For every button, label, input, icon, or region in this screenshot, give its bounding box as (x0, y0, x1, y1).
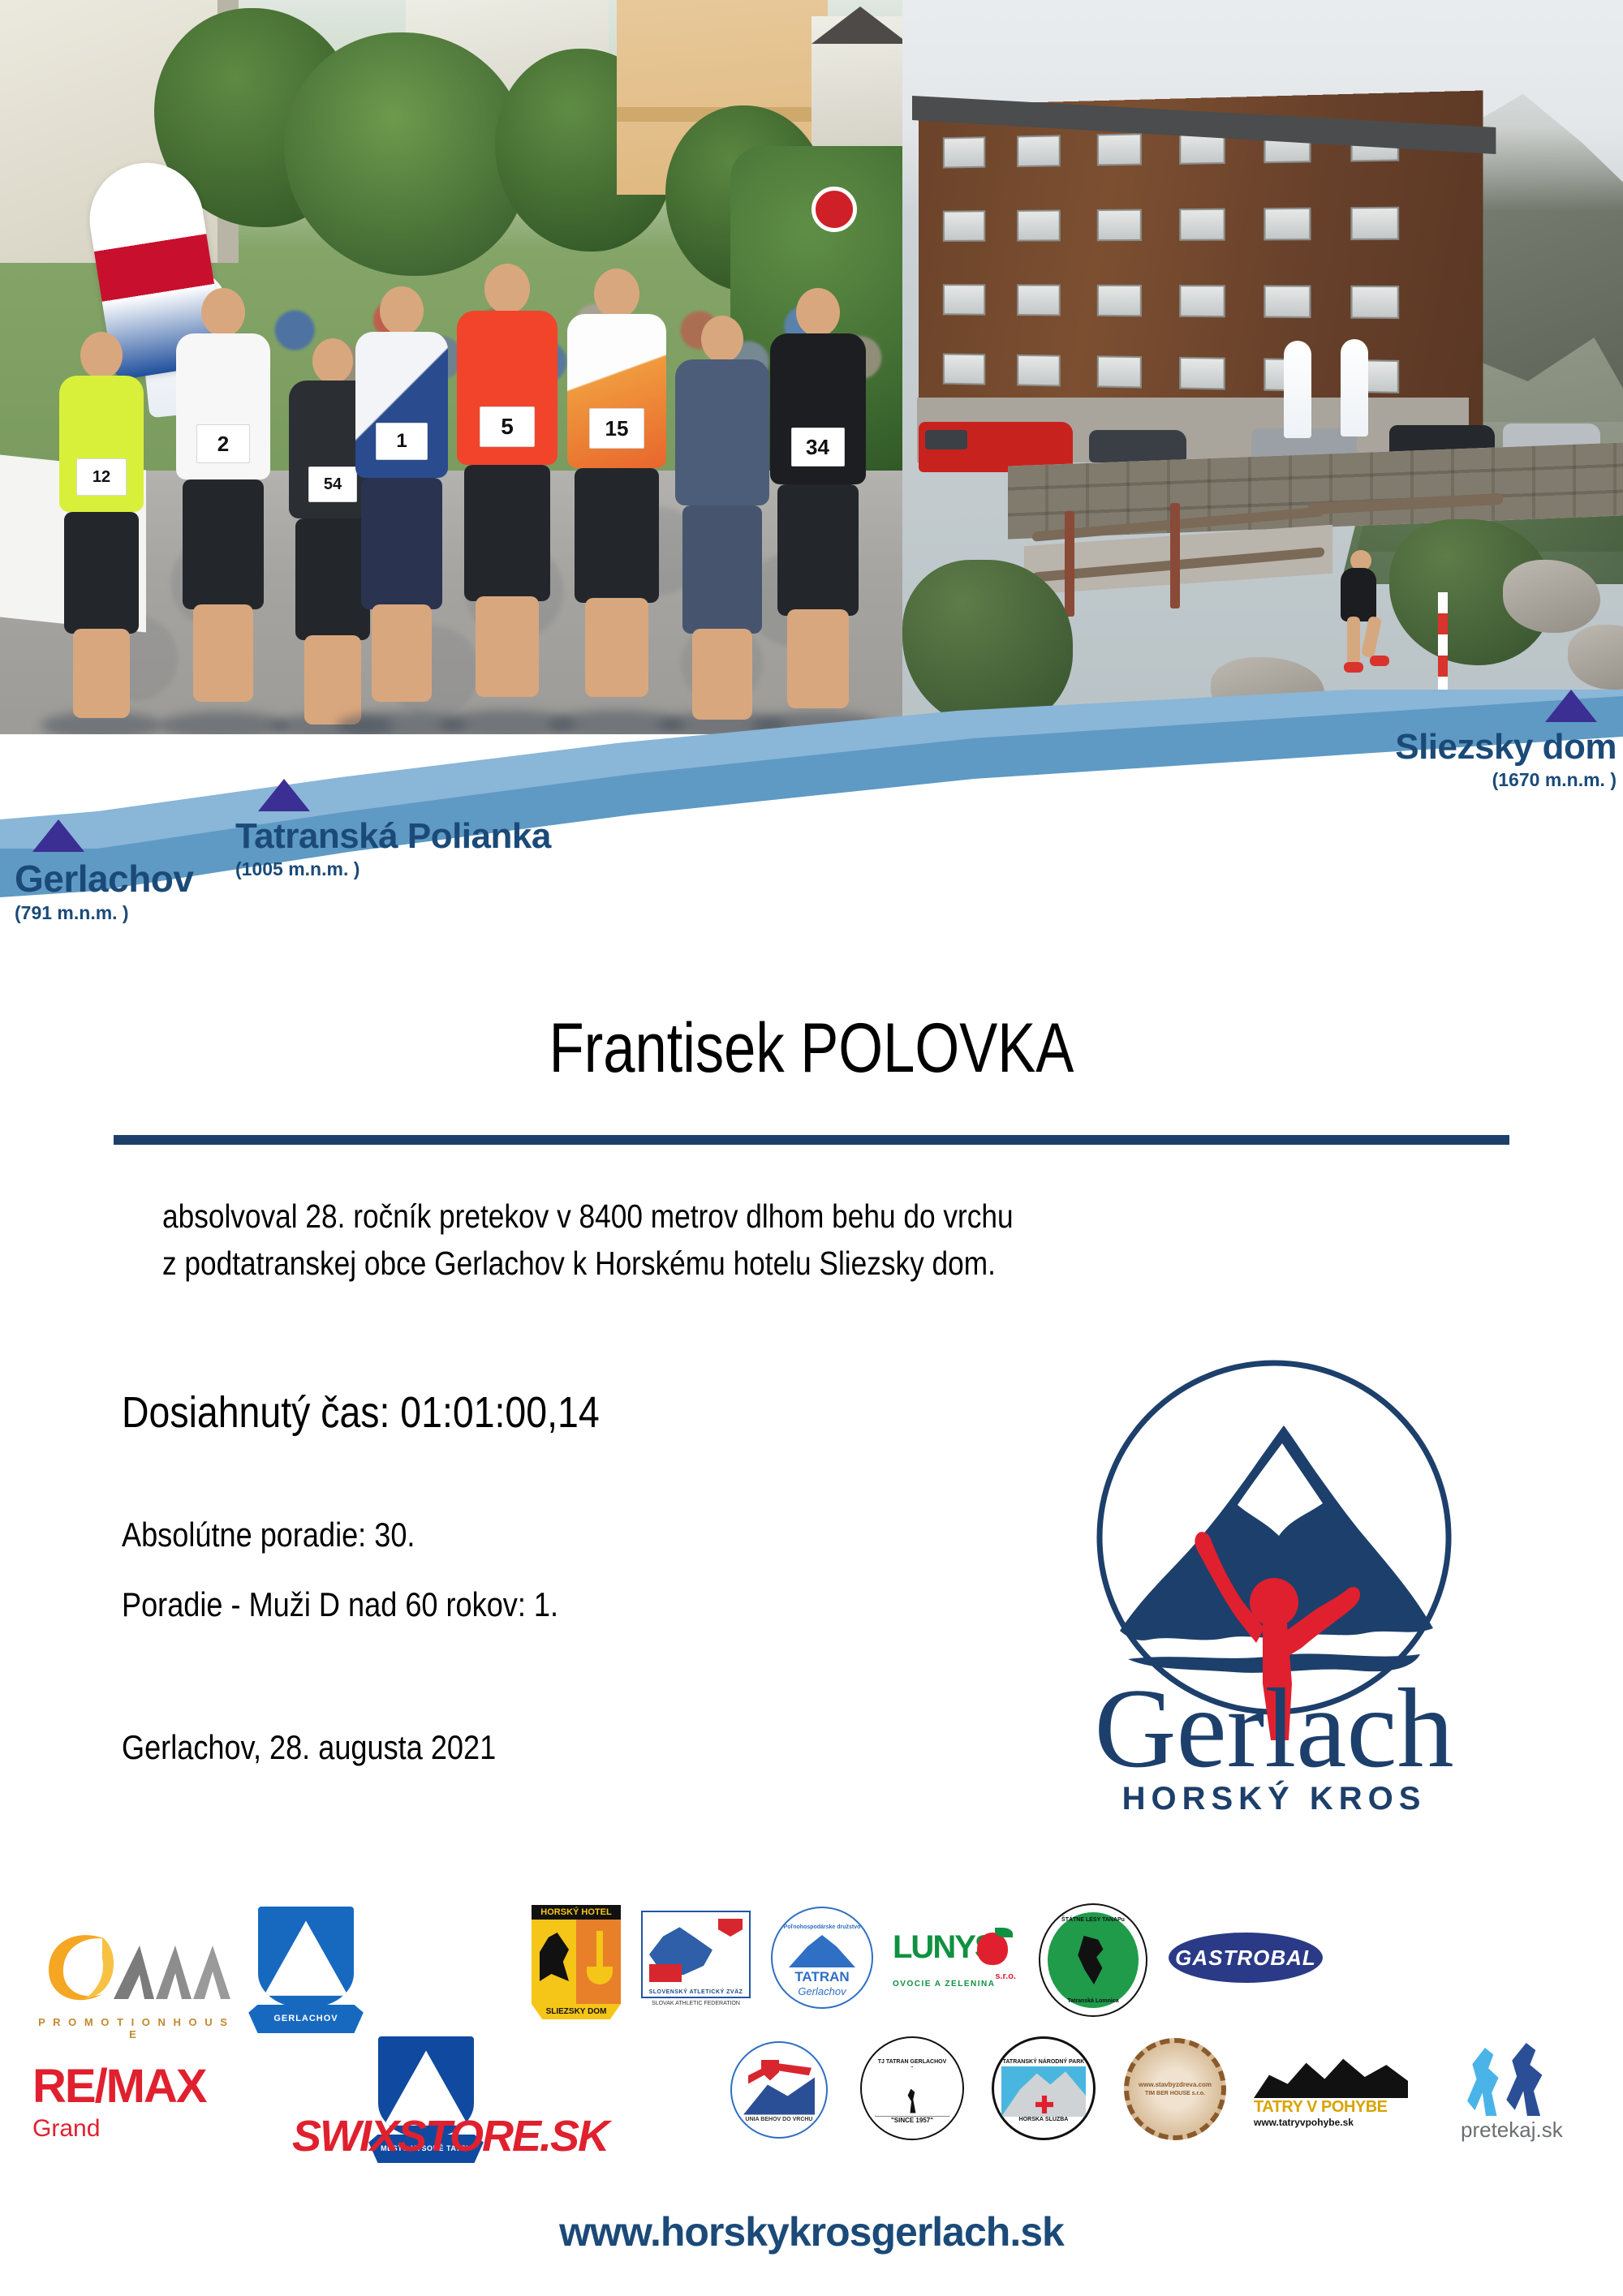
unia-name: UNIA BEHOV DO VRCHU (746, 2117, 813, 2122)
tanap-sub: Tatranská Lomnica (1048, 1998, 1139, 2004)
achieved-time: Dosiahnutý čas: 01:01:00,14 (122, 1387, 600, 1438)
tj-sub: "SINCE 1957" (891, 2117, 933, 2124)
marker-altitude: (791 m.n.m. ) (15, 902, 194, 924)
apple-icon (977, 1933, 1008, 1965)
place-and-date: Gerlachov, 28. augusta 2021 (122, 1728, 496, 1767)
marker-name: Sliezsky dom (1395, 727, 1617, 767)
marker-name: Gerlachov (15, 857, 194, 901)
sponsor-swixstore: SWIXSTORE.SK (292, 2111, 641, 2161)
elevation-marker-sliezsky-dom: Sliezsky dom (1670 m.n.m. ) (1395, 690, 1617, 791)
ajla-tagline: P R O M O T I O N H O U S E (32, 2016, 235, 2040)
elevation-marker-gerlachov: Gerlachov (791 m.n.m. ) (15, 819, 194, 924)
website-url: www.horskykrosgerlach.sk (0, 2208, 1623, 2255)
tanap-name: ŠTÁTNE LESY TANAPu (1048, 1917, 1139, 1923)
tatran-sub: Gerlachov (798, 1985, 846, 1997)
logo-tagline: HORSKÝ KROS (1122, 1779, 1427, 1817)
photo-band: 12 2 54 1 (0, 0, 1623, 734)
elevation-profile: Gerlachov (791 m.n.m. ) Tatranská Polian… (0, 690, 1623, 1030)
runner-figure: 12 (49, 312, 154, 734)
tatran-top: Poľnohospodárske družstvo (784, 1924, 861, 1930)
crest-name: GERLACHOV (248, 2005, 364, 2033)
race-description: absolvoval 28. ročník pretekov v 8400 me… (162, 1193, 1293, 1287)
marker-name: Tatranská Polianka (235, 816, 551, 857)
triangle-marker-icon (1545, 690, 1597, 722)
hs-name: TATRANSKÝ NÁRODNÝ PARK (1003, 2059, 1085, 2065)
tvp-sub: www.tatryvpohybe.sk (1254, 2117, 1408, 2128)
runner-figure: 34 (755, 280, 880, 734)
hs-sub: HORSKÁ SLUŽBA (1019, 2117, 1069, 2122)
sponsor-unia-behov-do-vrchu: UNIA BEHOV DO VRCHU (730, 2041, 828, 2139)
lunys-extra: s.r.o. (995, 1971, 1016, 1981)
sponsor-statne-lesy-tanapu: ŠTÁTNE LESY TANAPu Tatranská Lomnica (1039, 1903, 1147, 2017)
tj-name: TJ TATRAN GERLACHOV (878, 2059, 947, 2065)
sponsor-ajla: P R O M O T I O N H O U S E (32, 1921, 235, 2040)
sponsor-horsky-hotel-sliezsky-dom: HORSKÝ HOTEL SLIEZSKY DOM (532, 1905, 621, 2039)
sponsor-stavbyzdreva: www.stavbyzdreva.com TIM BER HOUSE s.r.o… (1124, 2038, 1226, 2140)
sponsor-horska-sluzba: TATRANSKÝ NÁRODNÝ PARK HORSKÁ SLUŽBA (992, 2036, 1096, 2140)
triangle-marker-icon (32, 819, 84, 852)
sponsor-tatry-v-pohybe: TATRY V POHYBE www.tatryvpohybe.sk (1254, 2048, 1408, 2128)
sponsor-gerlachov-crest: GERLACHOV (258, 1907, 354, 2036)
pretekaj-name: pretekaj.sk (1461, 2118, 1599, 2143)
photo-race-start: 12 2 54 1 (0, 0, 902, 734)
photo-sliezsky-dom (902, 0, 1623, 734)
logo-wordmark: Gerlach (1094, 1666, 1453, 1791)
ajla-logo-icon (32, 1921, 235, 2010)
elevation-marker-tatranska-polianka: Tatranská Polianka (1005 m.n.m. ) (235, 779, 551, 880)
wood-sub: TIM BER HOUSE s.r.o. (1145, 2091, 1205, 2096)
sponsor-remax-grand: RE/MAX Grand (32, 2059, 235, 2143)
hotel-top-label: HORSKÝ HOTEL (532, 1905, 621, 1920)
runner-figure: 2 (162, 280, 284, 734)
marker-altitude: (1670 m.n.m. ) (1395, 769, 1617, 791)
hotel-bottom-label: SLIEZSKY DOM (532, 2004, 621, 2019)
sponsor-tj-tatran-gerlachov: TJ TATRAN GERLACHOV "SINCE 1957" (860, 2036, 964, 2140)
marker-altitude: (1005 m.n.m. ) (235, 858, 551, 880)
tatran-name: TATRAN (794, 1969, 849, 1985)
tvp-name: TATRY V POHYBE (1254, 2098, 1408, 2117)
remax-name: RE/MAX (32, 2059, 235, 2113)
sponsor-slovensky-atleticky-zvaz: SLOVENSKÝ ATLETICKÝ ZVÄZ SLOVAK ATHLETIC… (641, 1911, 751, 2006)
tatran-mountain-icon (789, 1935, 855, 1967)
runner-icon-dark (1505, 2043, 1552, 2116)
description-line-1: absolvoval 28. ročník pretekov v 8400 me… (162, 1193, 1293, 1240)
sponsor-gastrobal: GASTROBAL (1169, 1933, 1323, 1983)
zvaz-name: SLOVENSKÝ ATLETICKÝ ZVÄZ (643, 1989, 749, 1995)
sponsor-pretekaj: pretekaj.sk (1461, 2041, 1599, 2143)
sponsor-lunys: LUNYS s.r.o. OVOCIE A ZELENINA (893, 1929, 1014, 1989)
remax-sub: Grand (32, 2115, 235, 2143)
gerlach-horsky-kros-logo: Gerlach HORSKÝ KROS (1031, 1335, 1518, 1829)
sponsor-logos: P R O M O T I O N H O U S E GERLACHOV ME… (0, 1882, 1623, 2207)
description-line-2: z podtatranskej obce Gerlachov k Horském… (162, 1240, 1293, 1287)
absolute-rank: Absolútne poradie: 30. (122, 1516, 415, 1554)
logo-graphic: Gerlach HORSKÝ KROS (1031, 1335, 1518, 1829)
category-rank: Poradie - Muži D nad 60 rokov: 1. (122, 1585, 558, 1624)
title-divider (114, 1135, 1509, 1145)
mountain-outline-icon (1254, 2048, 1408, 2098)
triangle-marker-icon (258, 779, 310, 811)
zvaz-sub: SLOVAK ATHLETIC FEDERATION (641, 2001, 751, 2006)
sponsor-tatran-gerlachov: Poľnohospodárske družstvo TATRAN Gerlach… (771, 1907, 873, 2009)
wood-name: www.stavbyzdreva.com (1139, 2081, 1212, 2088)
athlete-name: Frantisek POLOVKA (146, 1008, 1477, 1089)
runner-icon-light (1466, 2048, 1508, 2116)
chamois-icon (1072, 1936, 1114, 1984)
swixstore-name: SWIXSTORE.SK (292, 2111, 641, 2161)
gastrobal-name: GASTROBAL (1175, 1946, 1316, 1971)
